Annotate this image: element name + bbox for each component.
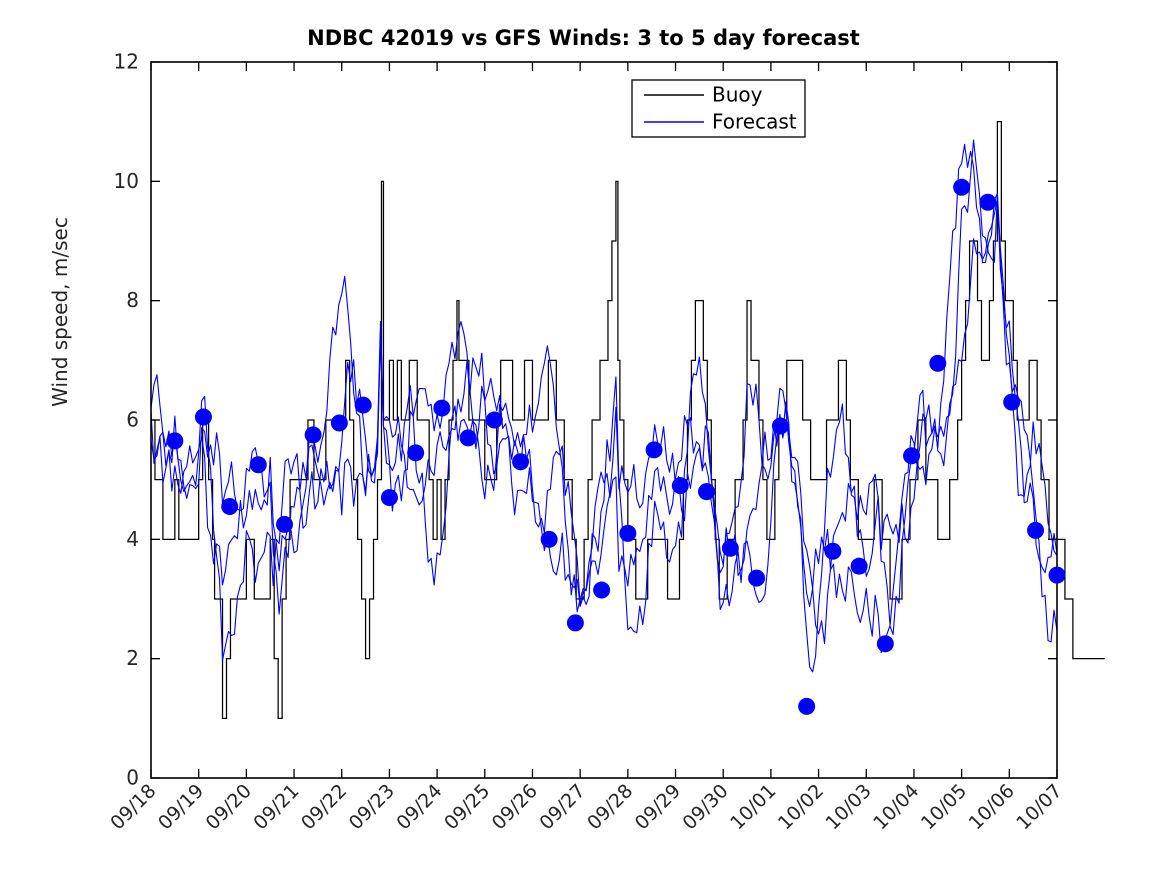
daily-mean-marker bbox=[646, 441, 663, 458]
daily-mean-marker bbox=[593, 582, 610, 599]
daily-mean-marker bbox=[772, 417, 789, 434]
daily-mean-marker bbox=[460, 429, 477, 446]
daily-mean-marker bbox=[722, 540, 739, 557]
y-tick-label: 2 bbox=[126, 646, 139, 670]
daily-mean-marker bbox=[305, 426, 322, 443]
y-tick-label: 6 bbox=[126, 408, 139, 432]
chart-plot-area: 02468101209/1809/1909/2009/2109/2209/230… bbox=[0, 0, 1167, 875]
daily-mean-marker bbox=[567, 614, 584, 631]
daily-mean-marker bbox=[798, 698, 815, 715]
x-tick-label: 09/28 bbox=[583, 780, 637, 834]
x-tick-label: 09/25 bbox=[440, 780, 494, 834]
x-tick-label: 09/22 bbox=[297, 780, 351, 834]
daily-mean-marker bbox=[512, 453, 529, 470]
chart-legend[interactable]: BuoyForecast bbox=[632, 80, 805, 137]
daily-mean-marker bbox=[1049, 567, 1066, 584]
daily-mean-marker bbox=[619, 525, 636, 542]
daily-mean-marker bbox=[1003, 394, 1020, 411]
daily-mean-marker bbox=[331, 414, 348, 431]
daily-mean-marker bbox=[903, 447, 920, 464]
daily-mean-marker bbox=[748, 570, 765, 587]
y-tick-label: 4 bbox=[126, 527, 139, 551]
daily-mean-marker bbox=[276, 516, 293, 533]
data-group bbox=[151, 122, 1105, 719]
daily-mean-marker bbox=[486, 412, 503, 429]
daily-mean-marker bbox=[381, 489, 398, 506]
forecast-series-line-2 bbox=[151, 140, 1057, 643]
x-tick-label: 10/02 bbox=[774, 780, 828, 834]
y-tick-label: 8 bbox=[126, 288, 139, 312]
x-tick-label: 10/01 bbox=[726, 780, 780, 834]
daily-mean-marker bbox=[851, 558, 868, 575]
y-tick-label: 10 bbox=[114, 169, 139, 193]
tick-labels-group: 02468101209/1809/1909/2009/2109/2209/230… bbox=[106, 50, 1066, 835]
daily-mean-marker bbox=[407, 444, 424, 461]
x-tick-label: 10/06 bbox=[965, 780, 1019, 834]
daily-mean-marker bbox=[1027, 522, 1044, 539]
daily-mean-markers bbox=[166, 179, 1065, 715]
daily-mean-marker bbox=[877, 635, 894, 652]
x-tick-label: 09/26 bbox=[488, 780, 542, 834]
x-tick-label: 10/03 bbox=[822, 780, 876, 834]
daily-mean-marker bbox=[824, 543, 841, 560]
daily-mean-marker bbox=[166, 432, 183, 449]
daily-mean-marker bbox=[195, 409, 212, 426]
x-tick-label: 09/30 bbox=[678, 780, 732, 834]
y-tick-label: 0 bbox=[126, 766, 139, 790]
x-tick-label: 09/24 bbox=[392, 780, 446, 834]
x-tick-label: 10/05 bbox=[917, 780, 971, 834]
legend-label-buoy: Buoy bbox=[712, 83, 763, 107]
daily-mean-marker bbox=[355, 397, 372, 414]
x-tick-label: 09/21 bbox=[249, 780, 303, 834]
daily-mean-marker bbox=[929, 355, 946, 372]
daily-mean-marker bbox=[250, 456, 267, 473]
x-tick-label: 10/07 bbox=[1012, 780, 1066, 834]
daily-mean-marker bbox=[541, 531, 558, 548]
daily-mean-marker bbox=[672, 477, 689, 494]
x-tick-label: 09/19 bbox=[154, 780, 208, 834]
x-tick-label: 09/29 bbox=[631, 780, 685, 834]
x-tick-label: 09/23 bbox=[345, 780, 399, 834]
daily-mean-marker bbox=[698, 483, 715, 500]
x-tick-label: 09/27 bbox=[535, 780, 589, 834]
daily-mean-marker bbox=[979, 194, 996, 211]
legend-label-forecast: Forecast bbox=[712, 110, 797, 134]
daily-mean-marker bbox=[221, 498, 238, 515]
figure-canvas: NDBC 42019 vs GFS Winds: 3 to 5 day fore… bbox=[0, 0, 1167, 875]
y-tick-label: 12 bbox=[114, 50, 139, 74]
x-tick-label: 10/04 bbox=[869, 780, 923, 834]
x-tick-label: 09/20 bbox=[202, 780, 256, 834]
daily-mean-marker bbox=[433, 400, 450, 417]
daily-mean-marker bbox=[953, 179, 970, 196]
